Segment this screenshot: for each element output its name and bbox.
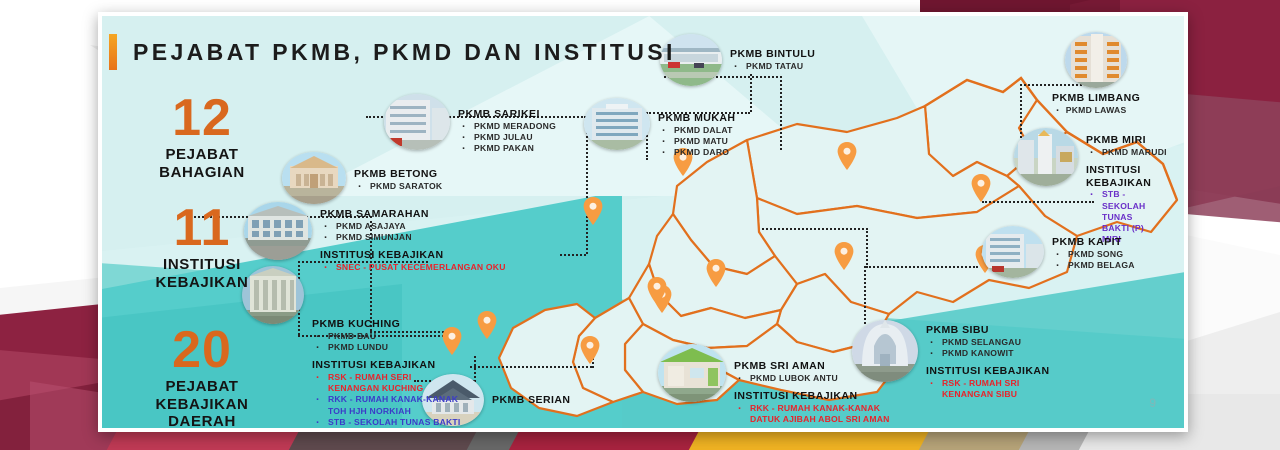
callout-sarikei[interactable]: PKMB SARIKEI PKMD MERADONG PKMD JULAU PK… — [384, 94, 556, 155]
photo-pkmb-limbang — [1065, 32, 1127, 88]
callout-title: PKMB SARIKEI — [458, 108, 556, 121]
callout-sub: PKMD ASAJAYA — [320, 221, 506, 232]
photo-pkmb-sarikei — [384, 94, 450, 150]
callout-sub: PKMD LUNDU — [312, 342, 462, 353]
stat-label-line1: INSTITUSI — [122, 256, 282, 274]
connector-sibu-v — [864, 266, 866, 324]
pin-kapit[interactable] — [706, 259, 726, 287]
callout-institution-item: RKK - RUMAH KANAK-KANAK DATUK AJIBAH ABO… — [734, 403, 898, 425]
callout-institution-item: RSK - RUMAH SRI KENANGAN SIBU — [926, 378, 1056, 400]
callout-sub: PKMD LAWAS — [1052, 105, 1140, 116]
pin-betong[interactable] — [647, 277, 667, 305]
callout-sub: PKMD MERADONG — [458, 121, 556, 132]
connector-kapit-v — [866, 228, 868, 268]
callout-sub: PKMD KANOWIT — [926, 348, 1056, 359]
stat-number: 12 — [122, 94, 282, 144]
stat-label-line3: DAERAH — [122, 413, 282, 431]
stat-label-line2: KEBAJIKAN — [122, 274, 282, 292]
pin-serian[interactable] — [580, 336, 600, 364]
stat-label: INSTITUSI KEBAJIKAN — [122, 256, 282, 291]
pin-limbang[interactable] — [837, 142, 857, 170]
callout-sub: PKMD PAKAN — [458, 143, 556, 154]
callout-bintulu[interactable]: PKMB BINTULU PKMD TATAU — [660, 34, 815, 86]
presentation-slide: PEJABAT PKMB, PKMD DAN INSTITUSI 12 PEJA… — [98, 12, 1188, 432]
stat-block-pejabat-kebajikan-daerah: 20 PEJABAT KEBAJIKAN DAERAH — [122, 326, 282, 431]
callout-samarahan[interactable]: PKMB SAMARAHAN PKMD ASAJAYA PKMD SIMUNJA… — [244, 202, 506, 273]
pin-sibu[interactable] — [834, 242, 854, 270]
pin-samarahan[interactable] — [477, 311, 497, 339]
callout-betong[interactable]: PKMB BETONG PKMD SARATOK — [282, 152, 442, 204]
stat-label-line2: KEBAJIKAN — [122, 396, 282, 414]
stat-label: PEJABAT BAHAGIAN — [122, 146, 282, 181]
connector-kapit-h2 — [762, 228, 868, 230]
stat-block-pejabat-bahagian: 12 PEJABAT BAHAGIAN — [122, 94, 282, 181]
callout-mukah[interactable]: PKMB MUKAH PKMD DALAT PKMD MATU PKMD DAR… — [584, 98, 735, 159]
stat-label: PEJABAT KEBAJIKAN DAERAH — [122, 378, 282, 431]
callout-sub: PKMD DALAT — [658, 125, 735, 136]
stat-label-line1: PEJABAT — [122, 378, 282, 396]
callout-sub: PKMD SELANGAU — [926, 337, 1056, 348]
connector-kapit-h — [866, 266, 978, 268]
callout-sub: PKMD SARATOK — [354, 181, 442, 192]
callout-institution-item: STB - SEKOLAH TUNAS BAKTI (L) KUCHING — [312, 417, 462, 432]
callout-institution-item: RSK - RUMAH SERI KENANGAN KUCHING — [312, 372, 462, 394]
callout-sub: PKMD SIMUNJAN — [320, 232, 506, 243]
callout-sri-aman[interactable]: PKMB SRI AMAN PKMD LUBOK ANTU INSTITUSI … — [658, 344, 898, 425]
callout-sub: PKMD MATU — [658, 136, 735, 147]
callout-institution-heading: INSTITUSI KEBAJIKAN — [312, 359, 462, 372]
page-number: 9 — [1149, 396, 1156, 410]
callout-title: PKMB SIBU — [926, 324, 1056, 337]
title-accent-bar — [109, 34, 117, 70]
callout-title: PKMB SRI AMAN — [734, 360, 898, 373]
callout-title: PKMB MIRI — [1086, 134, 1167, 147]
callout-title: PKMB BINTULU — [730, 48, 815, 61]
photo-pkmb-sri-aman — [658, 344, 726, 402]
callout-sub: PKMD TATAU — [730, 61, 815, 72]
desktop-backdrop: PEJABAT PKMB, PKMD DAN INSTITUSI 12 PEJA… — [0, 0, 1280, 450]
stat-number: 20 — [122, 326, 282, 376]
callout-institution-heading: INSTITUSIKEBAJIKAN — [1086, 164, 1152, 189]
callout-title: PKMB BETONG — [354, 168, 442, 181]
callout-title: PKMB KUCHING — [312, 318, 462, 331]
callout-institution-heading: INSTITUSI KEBAJIKAN — [926, 365, 1056, 378]
callout-institution-heading: INSTITUSI KEBAJIKAN — [320, 249, 506, 262]
page-title: PEJABAT PKMB, PKMD DAN INSTITUSI — [133, 39, 676, 66]
callout-limbang[interactable]: PKMB LIMBANG PKMD LAWAS — [1052, 32, 1140, 116]
callout-sub: PKMD DARO — [658, 147, 735, 158]
callout-sub: PKMD JULAU — [458, 132, 556, 143]
callout-sub: PKMD SONG — [1052, 249, 1135, 260]
callout-title: PKMB MUKAH — [658, 112, 735, 125]
callout-title: PKMB LIMBANG — [1052, 92, 1140, 105]
connector-sarikei-h2 — [560, 254, 586, 256]
pin-miri[interactable] — [971, 174, 991, 202]
pin-mukah[interactable] — [583, 197, 603, 225]
callout-sub: PKMD MARUDI — [1086, 147, 1167, 158]
photo-pkmb-mukah — [584, 98, 650, 150]
callout-title: PKMB SAMARAHAN — [320, 208, 506, 221]
connector-bintulu-v — [780, 76, 782, 150]
photo-pkmb-kapit — [982, 226, 1044, 278]
callout-sub: PKMD BAU — [312, 331, 462, 342]
stat-label-line1: PEJABAT — [122, 146, 282, 164]
stat-label-line2: BAHAGIAN — [122, 164, 282, 182]
stat-block-institusi-kebajikan: 11 INSTITUSI KEBAJIKAN — [122, 204, 282, 291]
callout-institution-heading: INSTITUSI KEBAJIKAN — [734, 390, 898, 403]
callout-sub: PKMD LUBOK ANTU — [734, 373, 898, 384]
callout-kapit[interactable]: PKMB KAPIT PKMD SONG PKMD BELAGA — [982, 226, 1135, 278]
callout-sub: PKMD BELAGA — [1052, 260, 1135, 271]
callout-institution-item: RKK - RUMAH KANAK-KANAK TOH HJH NORKIAH — [312, 394, 462, 416]
callout-title: PKMB KAPIT — [1052, 236, 1135, 249]
photo-pkmb-betong — [282, 152, 346, 204]
callout-title: PKMB SERIAN — [492, 394, 570, 407]
photo-pkmb-miri — [1014, 128, 1078, 186]
connector-sriaman-h — [470, 366, 592, 368]
slide-title: PEJABAT PKMB, PKMD DAN INSTITUSI — [109, 34, 676, 70]
stat-number: 11 — [122, 204, 282, 254]
